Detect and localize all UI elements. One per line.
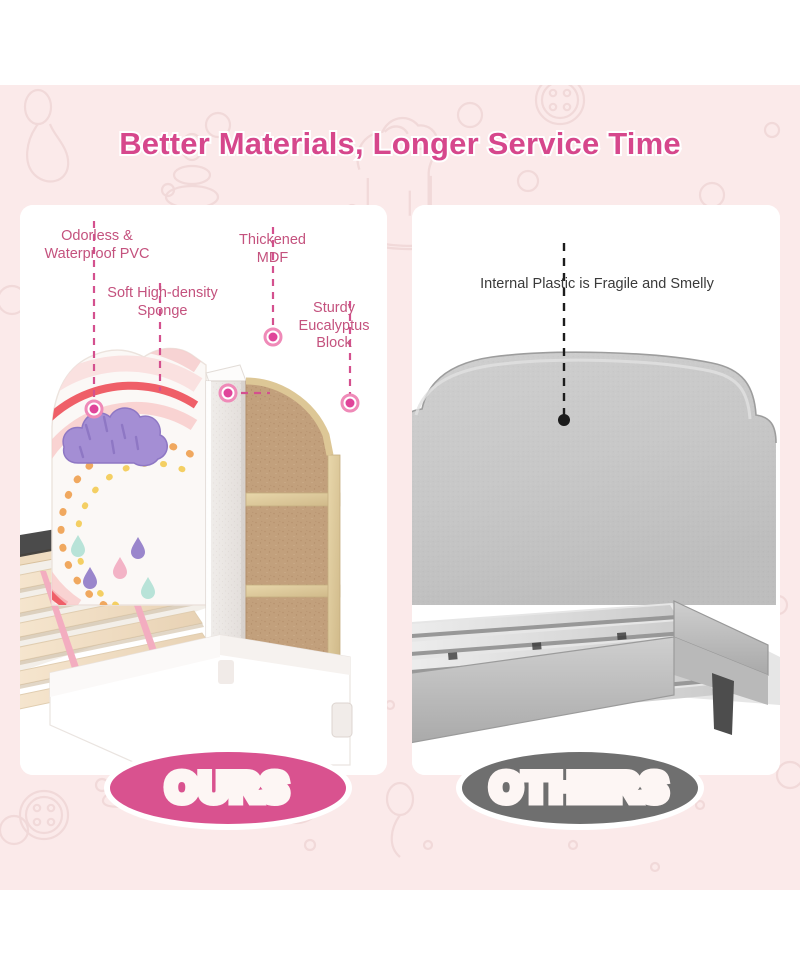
callout-label-mdf: Thickened MDF (215, 232, 330, 267)
badge-others-label: OTHERS (491, 768, 670, 808)
callout-label-pvc: Odorless & Waterproof PVC (22, 228, 172, 263)
badge-ours-label: OURS (166, 768, 290, 808)
callout-label-internal-plastic: Internal Plastic is Fragile and Smelly (432, 276, 762, 294)
badge-ours: OURS (104, 746, 352, 830)
page-title: Better Materials, Longer Service Time (0, 126, 800, 162)
callout-label-eucalyptus: Sturdy Eucalyptus Block (288, 300, 380, 353)
callout-label-sponge: Soft High-density Sponge (80, 285, 245, 320)
badge-others: OTHERS (456, 746, 704, 830)
